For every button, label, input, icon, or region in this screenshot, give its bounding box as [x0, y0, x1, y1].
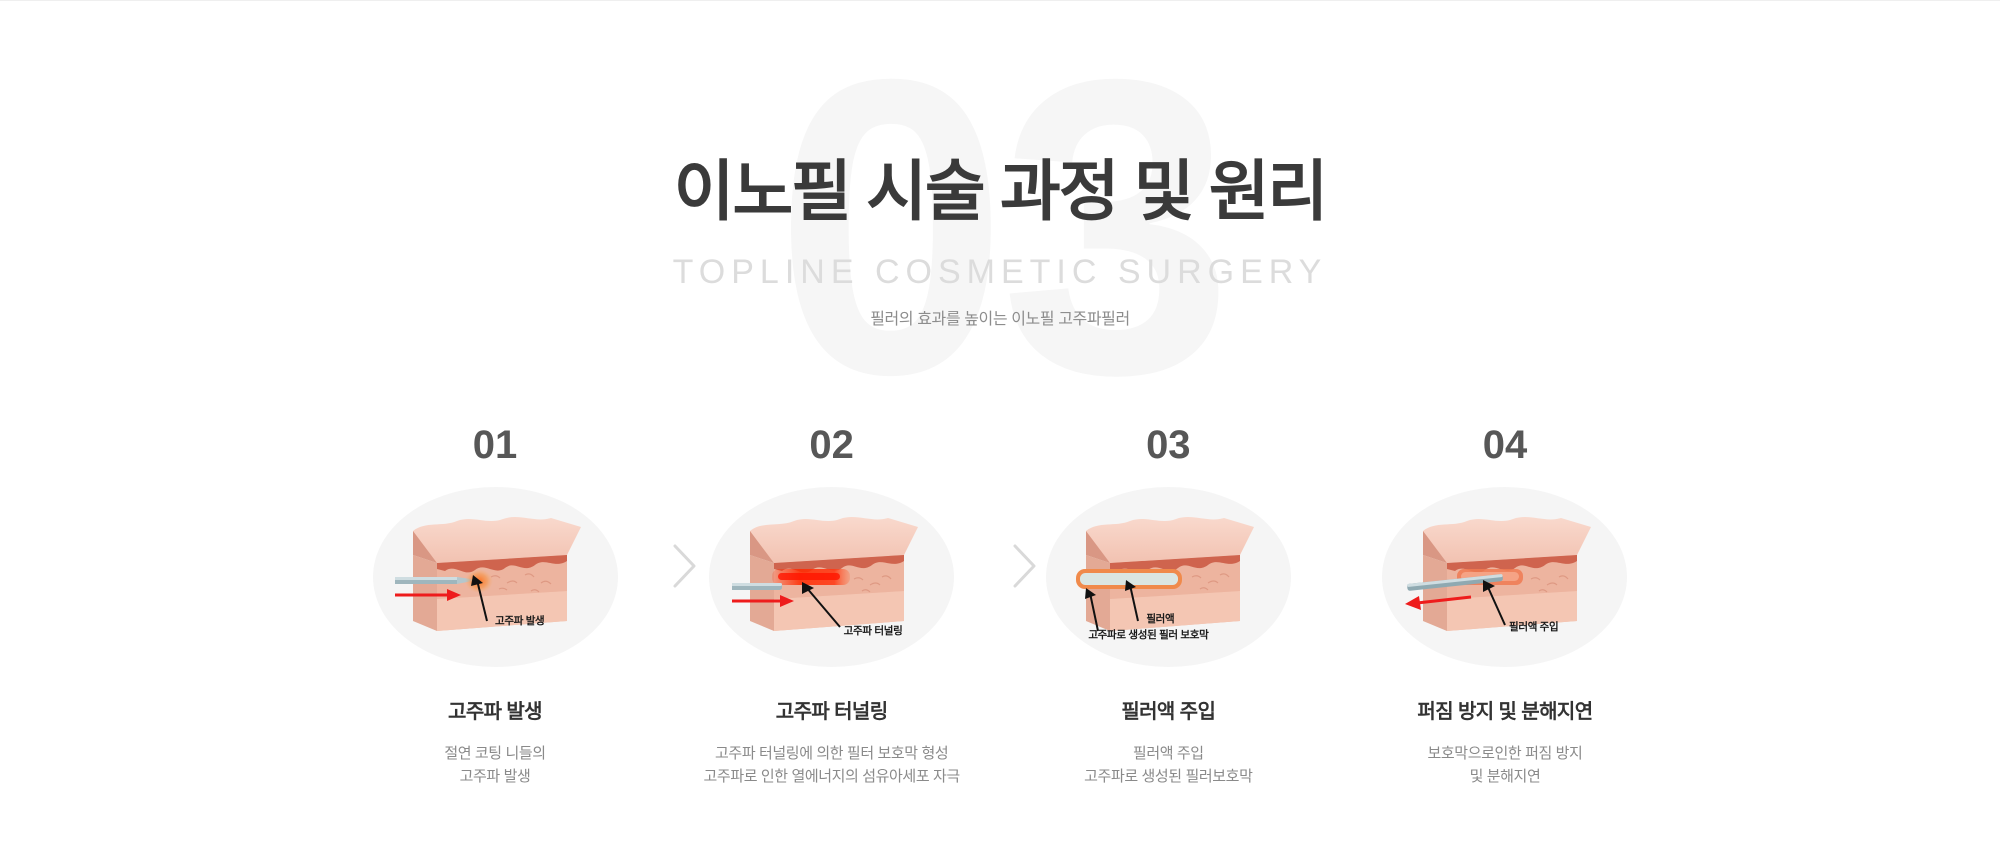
- step-number: 03: [1146, 425, 1191, 465]
- skin-diagram-rf-tunneling: 고주파 터널링: [732, 513, 932, 641]
- process-step: 02: [677, 425, 987, 789]
- process-steps-list: 01: [340, 425, 1660, 825]
- skin-diagram-spread-prevention: 필러액 주입: [1405, 513, 1605, 641]
- page-title: 이노필 시술 과정 및 원리: [674, 155, 1327, 228]
- step-description: 필러액 주입 고주파로 생성된 필러보호막: [1084, 742, 1252, 789]
- section-description: 필러의 효과를 높이는 이노필 고주파필러: [870, 305, 1130, 329]
- skin-diagram-rf-generation: 고주파 발생: [395, 513, 595, 641]
- step-number: 02: [809, 425, 854, 465]
- step-description: 절연 코팅 니들의 고주파 발생: [444, 742, 545, 789]
- step-number: 01: [473, 425, 518, 465]
- background-watermark-number: 03: [774, 18, 1225, 438]
- step-title: 고주파 터널링: [776, 695, 888, 724]
- skin-diagram-filler-injection: 필러액 고주파로 생성된 필러 보호막: [1068, 513, 1268, 641]
- step-title: 퍼짐 방지 및 분해지연: [1417, 695, 1592, 724]
- diagram-label: 필러액 주입: [1509, 619, 1558, 634]
- chevron-right-icon: [1012, 543, 1038, 589]
- section-header: 03 이노필 시술 과정 및 원리 TOPLINE COSMETIC SURGE…: [0, 0, 2000, 420]
- step-illustration-circle: 고주파 터널링: [709, 487, 954, 667]
- process-step: 04: [1350, 425, 1660, 789]
- process-step: 03: [1013, 425, 1323, 789]
- step-description: 고주파 터널링에 의한 필터 보호막 형성 고주파로 인한 열에너지의 섬유아세…: [704, 742, 960, 789]
- diagram-label: 고주파 발생: [495, 613, 544, 628]
- english-subtitle: TOPLINE COSMETIC SURGERY: [673, 255, 1328, 289]
- innofill-process-section: 03 이노필 시술 과정 및 원리 TOPLINE COSMETIC SURGE…: [0, 0, 2000, 850]
- process-step: 01: [340, 425, 650, 789]
- diagram-label: 필러액: [1146, 611, 1174, 626]
- chevron-right-icon: [672, 543, 698, 589]
- diagram-label: 고주파 터널링: [844, 623, 903, 638]
- step-illustration-circle: 필러액 고주파로 생성된 필러 보호막: [1046, 487, 1291, 667]
- rf-tunnel-glow: [772, 569, 850, 585]
- step-title: 필러액 주입: [1121, 695, 1215, 724]
- step-description: 보호막으로인한 퍼짐 방지 및 분해지연: [1428, 742, 1583, 789]
- diagram-label: 고주파로 생성된 필러 보호막: [1088, 627, 1208, 642]
- step-number: 04: [1483, 425, 1528, 465]
- step-illustration-circle: 고주파 발생: [373, 487, 618, 667]
- step-title: 고주파 발생: [448, 695, 542, 724]
- step-illustration-circle: 필러액 주입: [1382, 487, 1627, 667]
- needle: [732, 583, 782, 590]
